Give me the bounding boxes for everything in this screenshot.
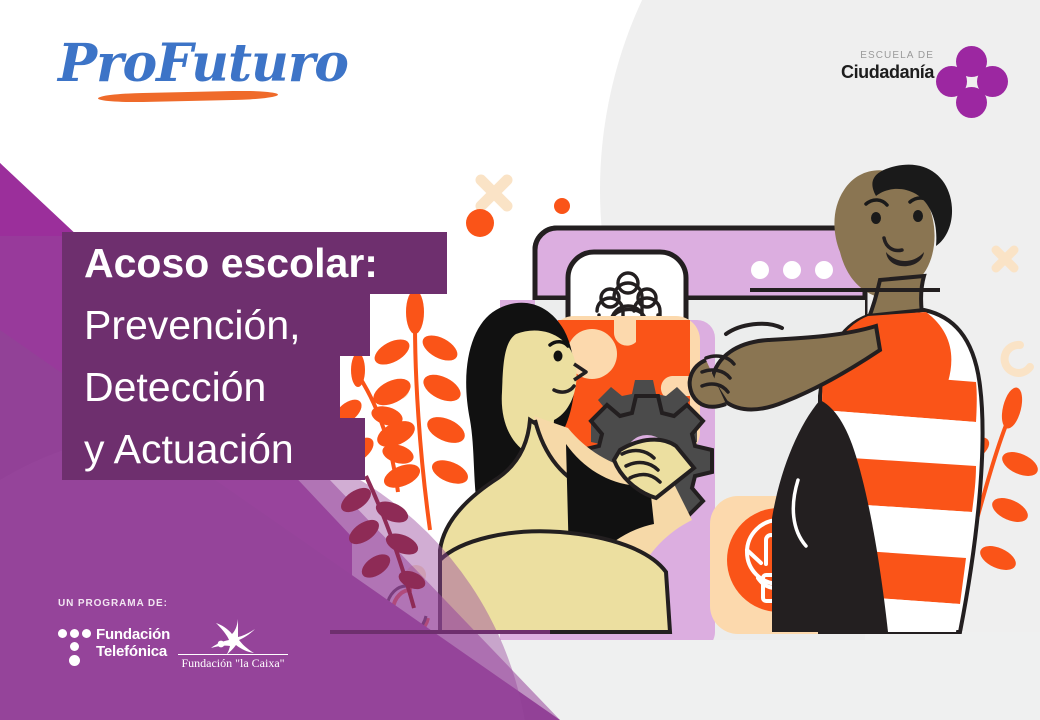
profuturo-wordmark: ProFuturo: [58, 36, 328, 92]
title-line-4: y Actuación: [62, 418, 365, 480]
title-line-3: Detección: [62, 356, 340, 418]
title-line-2: Prevención,: [62, 294, 370, 356]
telefonica-wordmark: Fundación Telefónica: [96, 626, 170, 660]
profuturo-logo[interactable]: ProFuturo: [58, 36, 328, 106]
window-dots: [751, 261, 833, 279]
title-line-1: Acoso escolar:: [62, 232, 447, 294]
footer-sponsors: UN PROGRAMA DE: Fundación Telefónica: [58, 598, 358, 675]
plant-magenta-decor: [330, 470, 560, 640]
telefonica-line-1: Fundación: [96, 626, 170, 643]
caixa-caption: Fundación "la Caixa": [178, 656, 288, 671]
page-title: Acoso escolar: Prevención, Detección y A…: [62, 232, 447, 480]
escuela-label: ESCUELA DE: [860, 50, 934, 61]
slide-canvas: ProFuturo ESCUELA DE Ciudadanía Acoso es…: [0, 0, 1040, 720]
fundacion-la-caixa-logo[interactable]: Fundación "la Caixa": [178, 623, 298, 675]
four-circles-flower-icon: [936, 46, 1008, 118]
escuela-ciudadania-logo[interactable]: ESCUELA DE Ciudadanía: [838, 46, 1008, 106]
footer-label: UN PROGRAMA DE:: [58, 598, 358, 609]
ciudadania-label: Ciudadanía: [841, 62, 934, 83]
ground-line: [330, 630, 550, 634]
fundacion-telefonica-logo[interactable]: Fundación Telefónica: [58, 627, 188, 671]
caixa-star-icon: [208, 619, 258, 655]
telefonica-line-2: Telefónica: [96, 643, 170, 660]
caixa-divider: [178, 654, 288, 655]
